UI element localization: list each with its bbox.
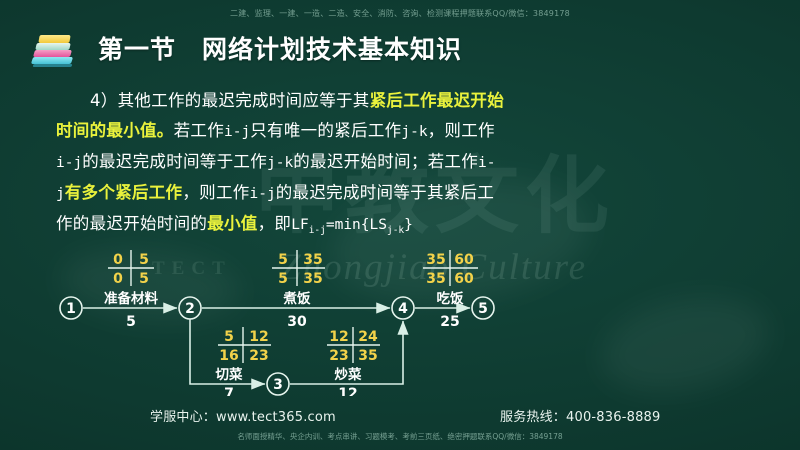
lesson-paragraph: 4）其他工作的最迟完成时间应等于其紧后工作最迟开始 时间的最小值。若工作i-j只…: [56, 86, 656, 246]
activity-eat-duration: 25: [440, 314, 459, 330]
node-4-label: 4: [398, 301, 408, 317]
svg-text:35: 35: [358, 348, 377, 364]
svg-text:12: 12: [329, 329, 348, 345]
line2-text-b: 只有唯一的紧后工作: [250, 121, 401, 140]
activity-cook-rice-name: 煮饭: [283, 290, 311, 307]
activity-stirfry-duration: 12: [338, 386, 357, 396]
line2-code-b: j-k: [401, 124, 427, 140]
section-title-text: 网络计划技术基本知识: [202, 35, 462, 64]
svg-text:23: 23: [249, 348, 268, 364]
formula-eq: =min{LS: [326, 217, 387, 233]
svg-text:60: 60: [454, 271, 474, 287]
formula-ls-sub: j-k: [387, 225, 404, 236]
network-diagram: .ln { stroke:#d9efe6; stroke-width:1.6; …: [0, 246, 800, 396]
svg-text:5: 5: [278, 252, 288, 268]
time-box-cook-rice: 5 35 5 35: [272, 250, 325, 287]
line4-code-a: j: [56, 186, 65, 202]
paragraph-line-1: 4）其他工作的最迟完成时间应等于其紧后工作最迟开始: [56, 86, 656, 116]
line4-text-a: ，则工作: [182, 183, 249, 202]
line3-code-a: i-j: [56, 155, 82, 171]
line1-highlight: 紧后工作最迟开始: [370, 91, 504, 110]
node-5-label: 5: [478, 301, 488, 317]
line1-text: 4）其他工作的最迟完成时间应等于其: [90, 91, 370, 110]
paragraph-line-5: 作的最迟开始时间的最小值，即LFi-j=min{LSj-k}: [56, 209, 656, 246]
line5-highlight: 最小值: [207, 214, 257, 233]
hotline-text: 服务热线：400-836-8889: [500, 406, 661, 425]
line4-text-b: 的最迟完成时间等于其紧后工: [276, 183, 494, 202]
paragraph-line-3: i-j的最迟完成时间等于工作j-k的最迟开始时间；若工作i-: [56, 147, 656, 178]
books-icon: [30, 28, 76, 68]
formula-lf-base: LF: [291, 217, 308, 233]
line3-text-a: 的最迟完成时间等于工作: [82, 152, 267, 171]
line5-text-b: ，即: [258, 214, 292, 233]
svg-text:12: 12: [249, 329, 268, 345]
line3-code-c: i-: [478, 155, 495, 171]
svg-text:5: 5: [278, 271, 288, 287]
activity-prepare-duration: 5: [126, 314, 136, 330]
page-footer: 学服中心：www.tect365.com 服务热线：400-836-8889: [0, 406, 800, 430]
activity-stirfry-name: 炒菜: [335, 366, 362, 383]
line2-text-a: 若工作: [174, 121, 224, 140]
svg-text:0: 0: [113, 252, 123, 268]
time-box-eat: 35 60 35 60: [423, 250, 478, 287]
svg-text:0: 0: [113, 271, 123, 287]
line3-code-b: j-k: [267, 155, 293, 171]
paragraph-line-4: j有多个紧后工作，则工作i-j的最迟完成时间等于其紧后工: [56, 178, 656, 209]
section-header: 第一节网络计划技术基本知识: [30, 26, 462, 70]
svg-text:16: 16: [219, 348, 238, 364]
page-title: 第一节网络计划技术基本知识: [98, 30, 462, 66]
line2-highlight: 时间的最小值。: [56, 121, 174, 140]
activity-cut-name: 切菜: [216, 366, 243, 383]
time-box-stir-fry: 12 24 23 35: [327, 327, 380, 364]
line2-text-c: ，则工作: [428, 121, 495, 140]
time-box-cut-vegetables: 5 12 16 23: [218, 327, 271, 364]
activity-cut-duration: 7: [224, 386, 234, 396]
node-1-label: 1: [66, 301, 76, 317]
svg-text:60: 60: [454, 252, 474, 268]
line4-highlight: 有多个紧后工作: [65, 183, 183, 202]
activity-eat-name: 吃饭: [437, 290, 464, 307]
service-center-text: 学服中心：www.tect365.com: [150, 406, 336, 425]
formula-close: }: [404, 217, 413, 233]
formula-lf-sub: i-j: [309, 225, 326, 236]
line5-text-a: 作的最迟开始时间的: [56, 214, 207, 233]
bottom-promo-watermark: 名师面授精华、央企内训、考点串讲、习题模考、考前三页纸、绝密押题联系QQ/微信：…: [0, 431, 800, 442]
paragraph-line-2: 时间的最小值。若工作i-j只有唯一的紧后工作j-k，则工作: [56, 116, 656, 147]
node-3-label: 3: [273, 377, 283, 393]
node-2-label: 2: [185, 301, 195, 317]
top-promo-watermark: 二建、监理、一建、一造、二造、安全、消防、咨询、检测课程押题联系QQ/微信：38…: [0, 8, 800, 19]
svg-text:35: 35: [426, 271, 445, 287]
svg-text:35: 35: [303, 252, 322, 268]
activity-cook-rice-duration: 30: [287, 314, 307, 330]
line2-code-a: i-j: [224, 124, 250, 140]
section-label: 第一节: [98, 35, 176, 64]
activity-prepare-name: 准备材料: [104, 290, 158, 307]
line3-text-b: 的最迟开始时间；若工作: [293, 152, 478, 171]
svg-text:5: 5: [224, 329, 234, 345]
formula-lf: LFi-j=min{LSj-k}: [291, 217, 413, 233]
svg-text:5: 5: [139, 271, 149, 287]
svg-text:35: 35: [426, 252, 445, 268]
svg-text:23: 23: [329, 348, 348, 364]
svg-text:5: 5: [139, 252, 149, 268]
svg-text:24: 24: [358, 329, 378, 345]
time-box-prepare: 0 5 0 5: [108, 250, 154, 287]
line4-code-b: i-j: [250, 186, 276, 202]
svg-text:35: 35: [303, 271, 322, 287]
